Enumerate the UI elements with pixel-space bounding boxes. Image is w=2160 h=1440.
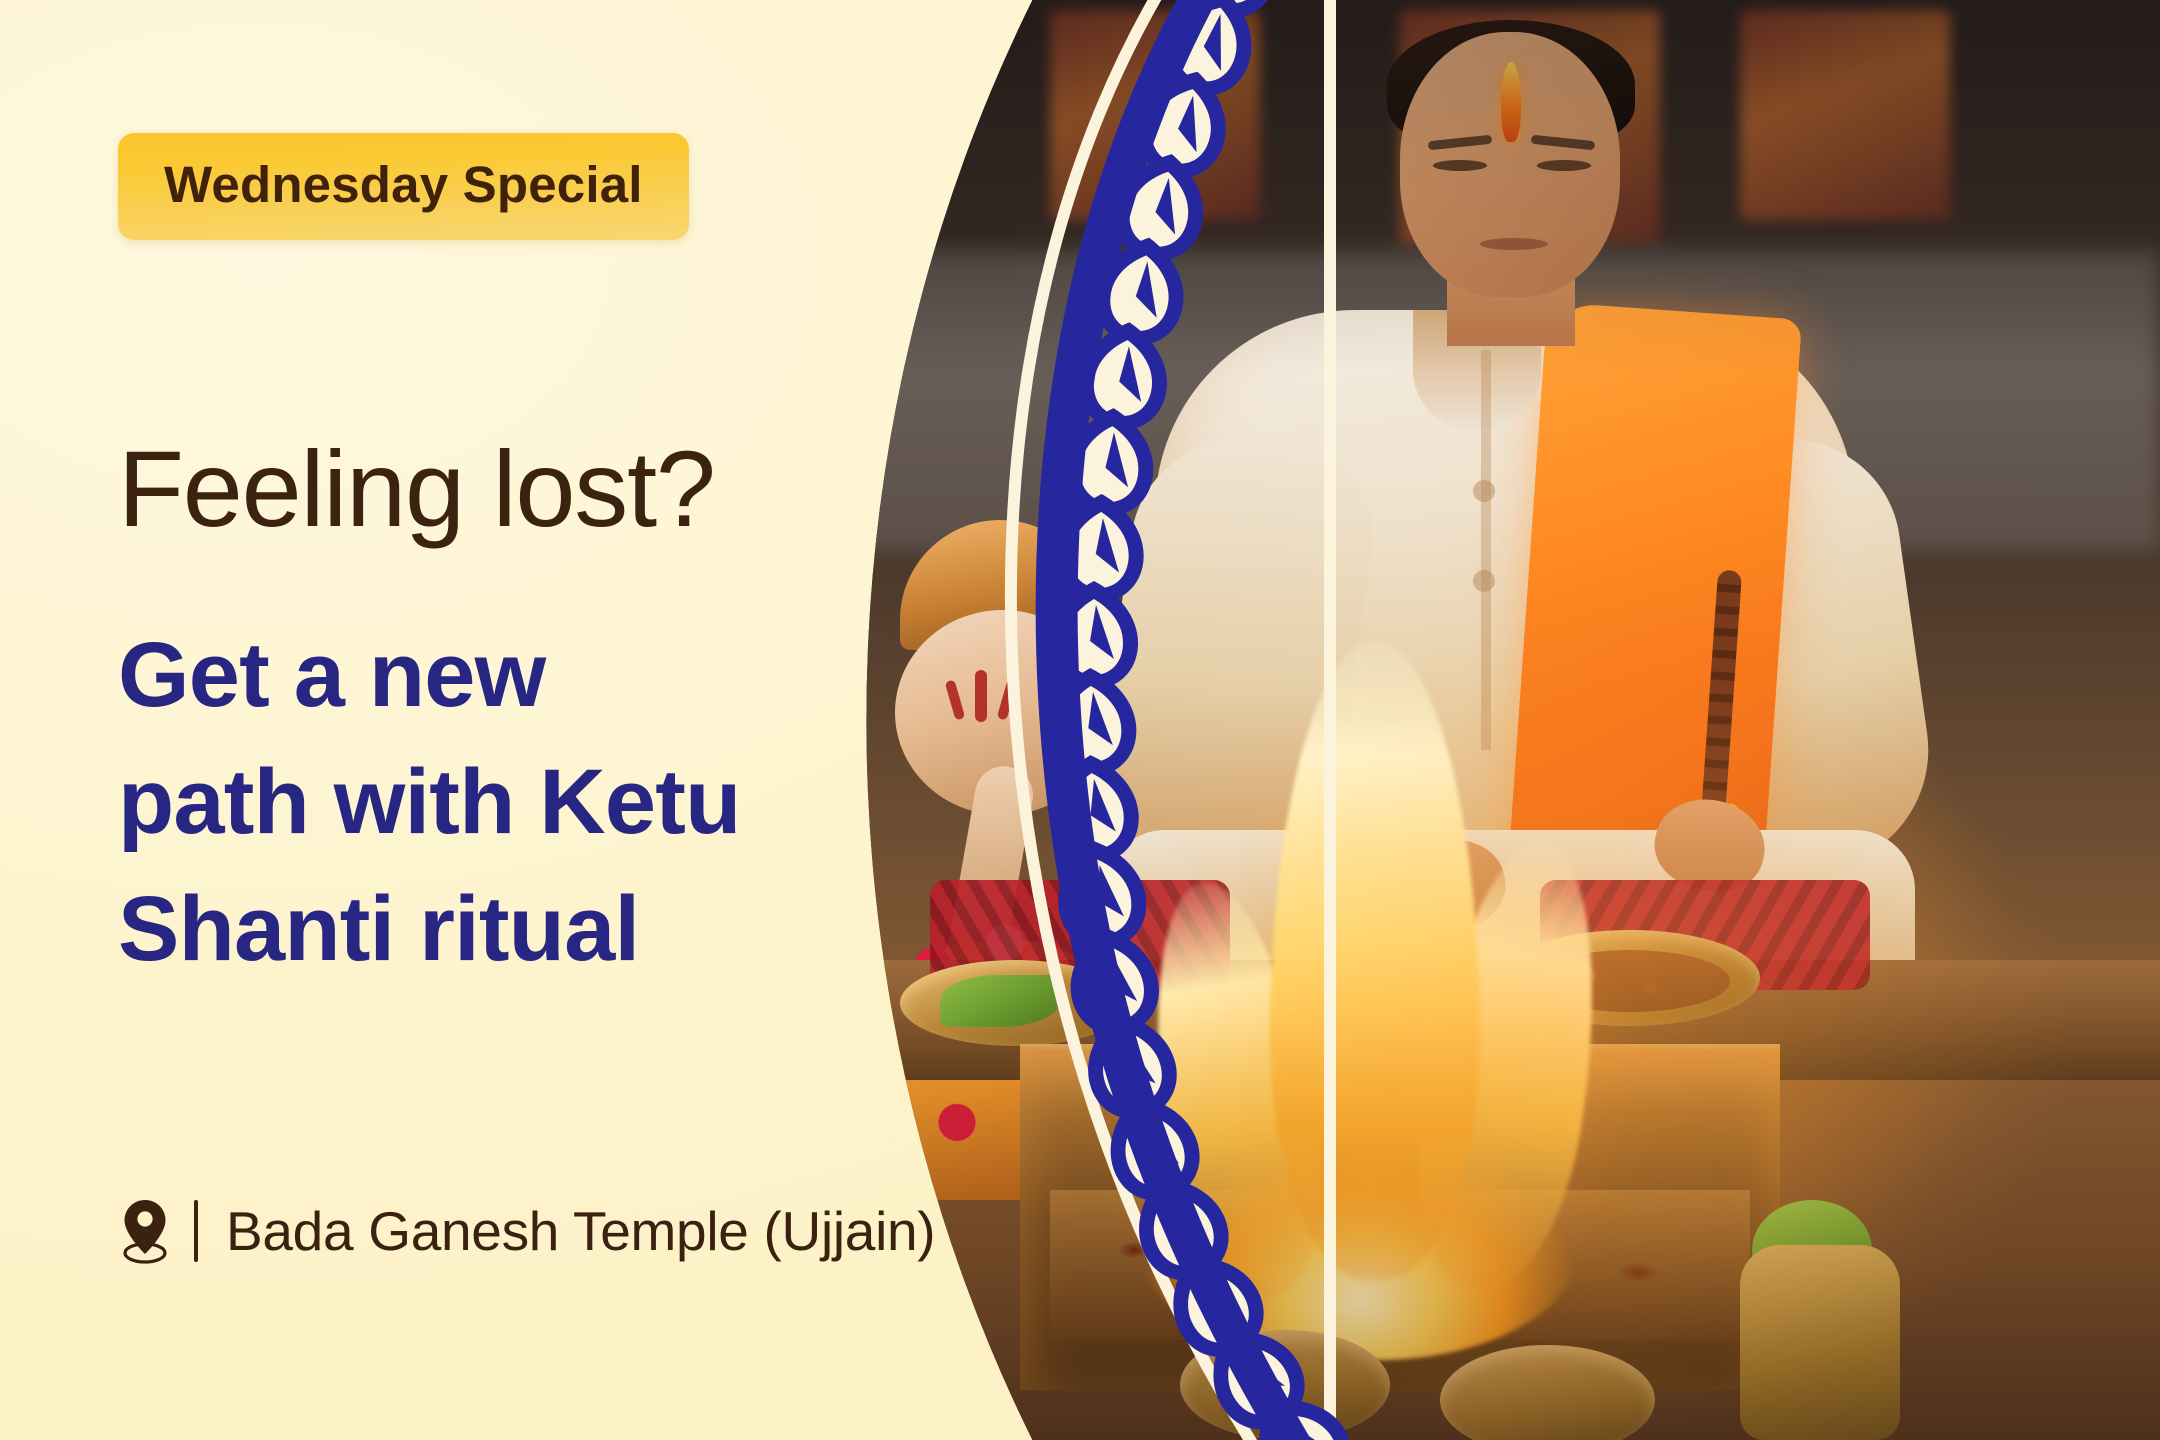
location-name: Bada Ganesh Temple (Ujjain) [226,1199,935,1263]
eyebrow-text: Feeling lost? [118,432,715,545]
priest-mouth [1480,238,1548,250]
content-panel: Wednesday Special Feeling lost? Get a ne… [0,0,1150,1440]
kurta-button-2 [1473,570,1495,592]
promo-badge-label: Wednesday Special [164,159,643,210]
priest-eye-left [1433,160,1487,171]
offering-bowl-1 [1180,1330,1390,1440]
map-pin-icon [118,1198,172,1264]
kurta-button-1 [1473,480,1495,502]
promo-badge: Wednesday Special [118,133,689,240]
location-divider [194,1200,198,1262]
page-title: Get a new path with Ketu Shanti ritual [118,612,741,993]
promo-banner: Wednesday Special Feeling lost? Get a ne… [0,0,2160,1440]
location-row: Bada Ganesh Temple (Ujjain) [118,1198,935,1264]
forehead-tilak-icon [1501,62,1521,142]
priest-eye-right [1537,160,1591,171]
brass-kalash [1740,1245,1900,1440]
